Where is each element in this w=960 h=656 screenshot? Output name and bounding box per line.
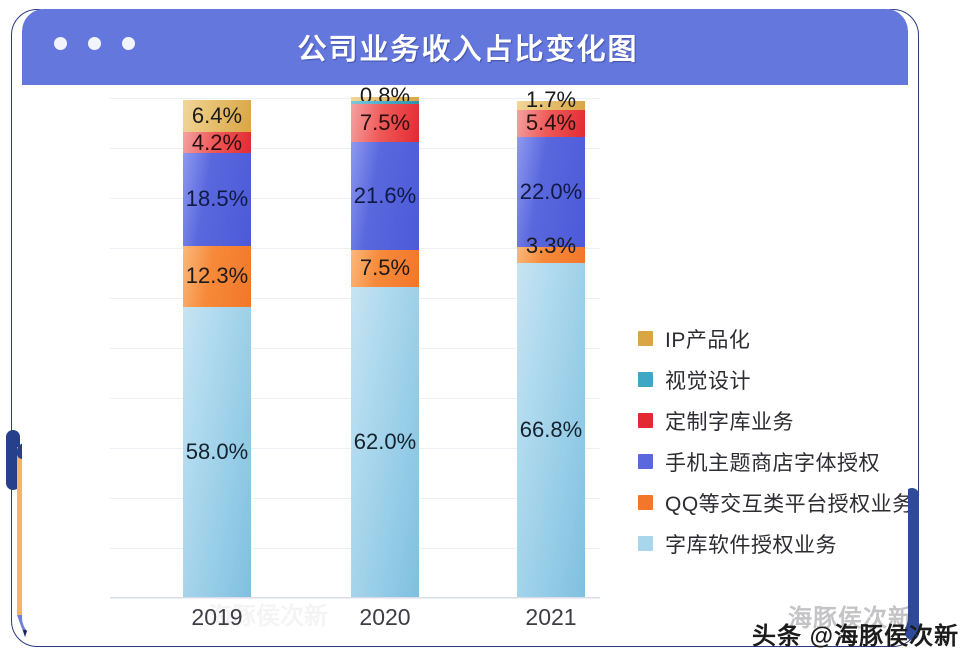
bar-segment[interactable]: 62.0%	[351, 287, 419, 597]
bar-segment-label: 6.4%	[192, 105, 242, 127]
bar-segment[interactable]: 4.2%	[183, 132, 251, 153]
bar-segment[interactable]: 22.0%	[517, 137, 585, 247]
bar-segment[interactable]: 21.6%	[351, 142, 419, 250]
bar-segment-label: 58.0%	[186, 441, 248, 463]
x-tick-2020: 2020	[351, 604, 419, 631]
bar-segment[interactable]: 3.3%	[517, 247, 585, 264]
legend-swatch-icon	[638, 372, 653, 387]
bar-segment[interactable]: 58.0%	[183, 307, 251, 597]
legend-label: 字库软件授权业务	[665, 529, 837, 559]
bar-segment-label: 21.6%	[354, 185, 416, 207]
legend-label: 定制字库业务	[665, 406, 794, 436]
x-axis-tick-labels: 201920202021	[110, 604, 600, 638]
window-dot-minimize[interactable]	[88, 37, 101, 50]
gridline	[110, 598, 600, 599]
bar-segment-label: 7.5%	[360, 257, 410, 279]
bar-segment[interactable]: 66.8%	[517, 263, 585, 597]
bar-segment[interactable]: 5.4%	[517, 110, 585, 137]
stacked-bar[interactable]: 1.7%5.4%22.0%3.3%66.8%	[517, 97, 585, 597]
bar-segment[interactable]: 6.4%	[183, 100, 251, 132]
stacked-bar[interactable]: 0.8%7.5%21.6%7.5%62.0%	[351, 97, 419, 597]
legend-swatch-icon	[638, 495, 653, 510]
bar-segment-label: 66.8%	[520, 419, 582, 441]
bar-segment-label: 12.3%	[186, 265, 248, 287]
bar-segment-label: 4.2%	[192, 132, 242, 154]
x-tick-2021: 2021	[517, 604, 585, 631]
legend-label: QQ等交互类平台授权业务	[665, 488, 908, 518]
legend-swatch-icon	[638, 454, 653, 469]
legend-swatch-icon	[638, 536, 653, 551]
window-dot-maximize[interactable]	[122, 37, 135, 50]
x-axis-line	[110, 597, 600, 598]
legend-swatch-icon	[638, 413, 653, 428]
legend-item-5[interactable]: 字库软件授权业务	[638, 523, 908, 564]
bar-segment[interactable]: 18.5%	[183, 153, 251, 246]
bar-group-2020[interactable]: 0.8%7.5%21.6%7.5%62.0%	[351, 97, 419, 597]
legend-item-3[interactable]: 手机主题商店字体授权	[638, 441, 908, 482]
chart-body: 6.4%4.2%18.5%12.3%58.0%0.8%7.5%21.6%7.5%…	[22, 85, 908, 639]
bar-group-2019[interactable]: 6.4%4.2%18.5%12.3%58.0%	[183, 97, 251, 597]
legend-label: 手机主题商店字体授权	[665, 447, 880, 477]
watermark-ghost-secondary: 海豚侯次新	[208, 596, 328, 631]
plot-area: 6.4%4.2%18.5%12.3%58.0%0.8%7.5%21.6%7.5%…	[110, 98, 600, 598]
bar-segment[interactable]: 7.5%	[351, 250, 419, 288]
bar-group-2021[interactable]: 1.7%5.4%22.0%3.3%66.8%	[517, 97, 585, 597]
watermark: 头条 @海豚侯次新	[752, 616, 959, 651]
bar-segment-label: 1.7%	[526, 89, 576, 111]
bar-segment[interactable]: 7.5%	[351, 104, 419, 142]
chart-window: 公司业务收入占比变化图 6.4%4.2%18.5%12.3%58.0%0.8%7…	[22, 9, 908, 639]
legend-label: 视觉设计	[665, 365, 751, 395]
page-title: 公司业务收入占比变化图	[22, 26, 908, 68]
legend-item-2[interactable]: 定制字库业务	[638, 400, 908, 441]
bar-segment-label: 7.5%	[360, 112, 410, 134]
chart-legend: IP产品化视觉设计定制字库业务手机主题商店字体授权QQ等交互类平台授权业务字库软…	[638, 318, 908, 564]
window-titlebar: 公司业务收入占比变化图	[22, 9, 908, 85]
legend-item-0[interactable]: IP产品化	[638, 318, 908, 359]
bar-segment[interactable]: 12.3%	[183, 246, 251, 308]
window-controls[interactable]	[54, 37, 135, 50]
stacked-bar[interactable]: 6.4%4.2%18.5%12.3%58.0%	[183, 97, 251, 597]
bar-segment-label: 62.0%	[354, 431, 416, 453]
legend-label: IP产品化	[665, 324, 750, 354]
bar-segment[interactable]: 1.7%	[517, 101, 585, 110]
bar-segment-label: 22.0%	[520, 181, 582, 203]
bar-segment-label: 5.4%	[526, 112, 576, 134]
bar-segment-label: 18.5%	[186, 188, 248, 210]
window-dot-close[interactable]	[54, 37, 67, 50]
legend-item-4[interactable]: QQ等交互类平台授权业务	[638, 482, 908, 523]
legend-swatch-icon	[638, 331, 653, 346]
bar-segment-label: 3.3%	[526, 235, 576, 257]
legend-item-1[interactable]: 视觉设计	[638, 359, 908, 400]
